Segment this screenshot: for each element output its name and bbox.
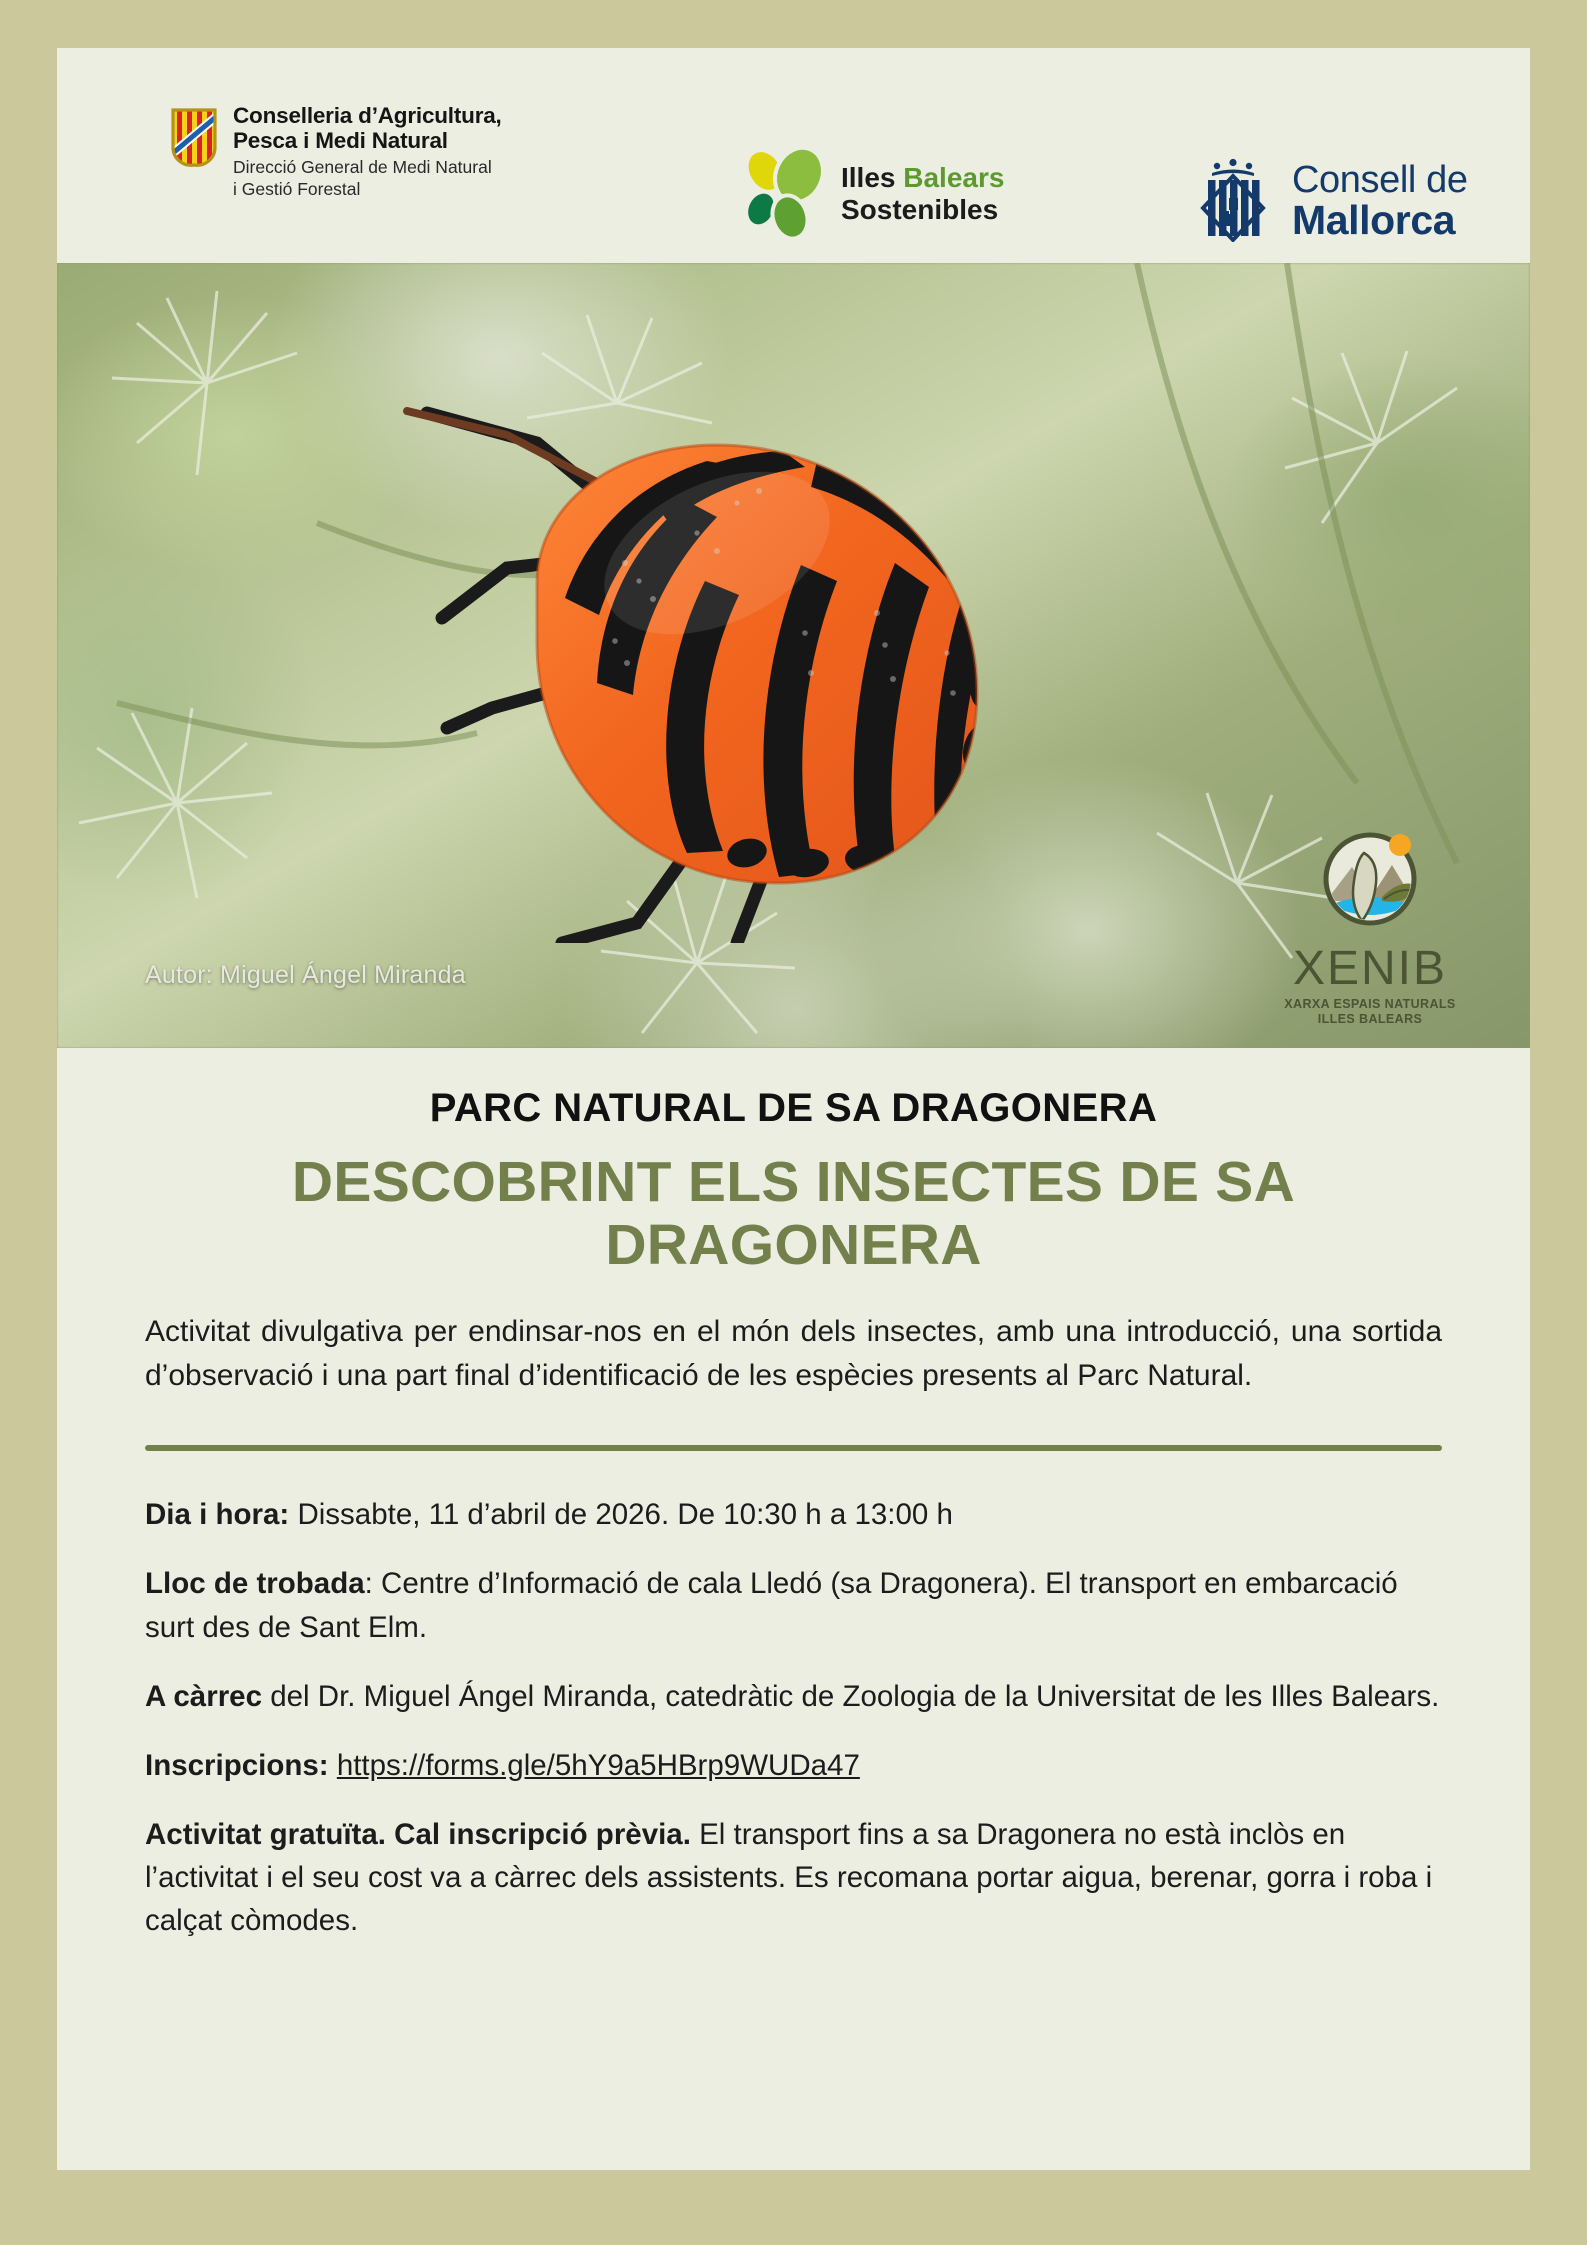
xenib-logo: XENIB XARXA ESPAIS NATURALS ILLES BALEAR… [1270, 827, 1470, 1028]
hero-photo: Autor: Miguel Ángel Miranda [57, 263, 1530, 1048]
conselleria-sub2: i Gestió Forestal [233, 179, 502, 200]
detail-label-lloc-de-trobada: Lloc de trobada [145, 1567, 365, 1600]
consell-line2: Mallorca [1292, 200, 1468, 242]
detail-text-dia-i-hora: Dissabte, 11 d’abril de 2026. De 10:30 h… [289, 1498, 953, 1531]
park-kicker: PARC NATURAL DE SA DRAGONERA [145, 1086, 1442, 1131]
content-area: PARC NATURAL DE SA DRAGONERA DESCOBRINT … [57, 1086, 1530, 1942]
illes-balears-line2: Sostenibles [841, 194, 1004, 226]
xenib-wordmark: XENIB [1270, 945, 1470, 993]
xenib-bird-mountain-icon [1270, 827, 1470, 943]
xenib-tagline-line2: ILLES BALEARS [1270, 1012, 1470, 1028]
consell-mallorca-crest-icon [1190, 156, 1276, 247]
catalan-shield-icon [169, 103, 219, 173]
divider-rule [145, 1445, 1442, 1451]
detail-text-a-carrec: del Dr. Miguel Ángel Miranda, catedràtic… [262, 1680, 1439, 1713]
balears-word: Balears [903, 162, 1004, 193]
logo-conselleria: Conselleria d’Agricultura, Pesca i Medi … [169, 103, 502, 200]
registration-label: Inscripcions: [145, 1749, 329, 1782]
xenib-tagline-line1: XARXA ESPAIS NATURALS [1270, 997, 1470, 1013]
detail-label-a-carrec: A càrrec [145, 1680, 262, 1713]
detail-a-carrec: A càrrec del Dr. Miguel Ángel Miranda, c… [145, 1675, 1442, 1718]
conselleria-sub1: Direcció General de Medi Natural [233, 157, 502, 178]
poster-root: Conselleria d’Agricultura, Pesca i Medi … [0, 0, 1587, 2245]
xenib-tagline: XARXA ESPAIS NATURALS ILLES BALEARS [1270, 997, 1470, 1028]
consell-mallorca-text: Consell de Mallorca [1292, 161, 1468, 242]
four-leaves-icon [735, 143, 831, 244]
detail-label-dia-i-hora: Dia i hora: [145, 1498, 289, 1531]
shield-bug-illustration [387, 383, 1107, 943]
consell-line1: Consell de [1292, 161, 1468, 200]
illes-word: Illes [841, 162, 903, 193]
detail-dia-i-hora: Dia i hora: Dissabte, 11 d’abril de 2026… [145, 1493, 1442, 1536]
illes-balears-text: Illes Balears Sostenibles [841, 162, 1004, 226]
page-title: DESCOBRINT ELS INSECTES DE SA DRAGONERA [145, 1151, 1442, 1276]
conselleria-line1: Conselleria d’Agricultura, [233, 103, 502, 128]
logo-bar: Conselleria d’Agricultura, Pesca i Medi … [57, 48, 1530, 263]
logo-illes-balears: Illes Balears Sostenibles [735, 143, 1004, 244]
illes-balears-line1: Illes Balears [841, 162, 1004, 194]
conselleria-text: Conselleria d’Agricultura, Pesca i Medi … [233, 103, 502, 200]
notice-paragraph: Activitat gratuïta. Cal inscripció prèvi… [145, 1813, 1442, 1942]
registration-line: Inscripcions: https://forms.gle/5hY9a5HB… [145, 1744, 1442, 1787]
poster-sheet: Conselleria d’Agricultura, Pesca i Medi … [57, 48, 1530, 2170]
conselleria-line2: Pesca i Medi Natural [233, 128, 502, 153]
notice-label: Activitat gratuïta. Cal inscripció prèvi… [145, 1818, 691, 1851]
detail-lloc-de-trobada: Lloc de trobada: Centre d’Informació de … [145, 1562, 1442, 1648]
logo-consell-mallorca: Consell de Mallorca [1190, 156, 1468, 247]
lead-paragraph: Activitat divulgativa per endinsar-nos e… [145, 1310, 1442, 1397]
photo-credit: Autor: Miguel Ángel Miranda [145, 961, 466, 990]
registration-link[interactable]: https://forms.gle/5hY9a5HBrp9WUDa47 [337, 1749, 860, 1782]
